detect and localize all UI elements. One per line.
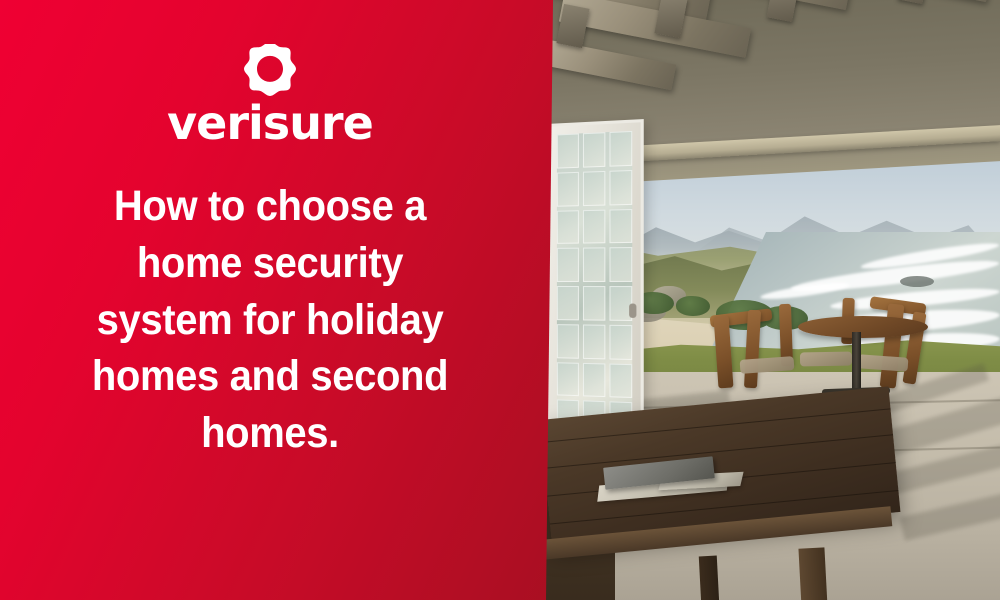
- verisure-wordmark: verisure: [167, 100, 373, 146]
- headline-line: homes.: [201, 409, 339, 457]
- headline-line: homes and second: [92, 352, 448, 400]
- verisure-flower-star-logo-icon: [242, 44, 298, 96]
- sea-rock: [900, 276, 934, 287]
- headline-line: system for holiday: [97, 296, 444, 344]
- door-handle: [629, 304, 636, 318]
- red-title-panel: verisure How to choose a home security s…: [0, 0, 560, 600]
- patio-table-top: [798, 316, 928, 338]
- french-door: [546, 119, 644, 449]
- headline-line: home security: [137, 239, 403, 287]
- page-title: How to choose a home security system for…: [65, 178, 474, 462]
- headline-line: How to choose a: [114, 182, 426, 230]
- article-cover-banner: verisure How to choose a home security s…: [0, 0, 1000, 600]
- verisure-logo[interactable]: verisure: [167, 44, 373, 146]
- door-glass-panes: [557, 131, 632, 437]
